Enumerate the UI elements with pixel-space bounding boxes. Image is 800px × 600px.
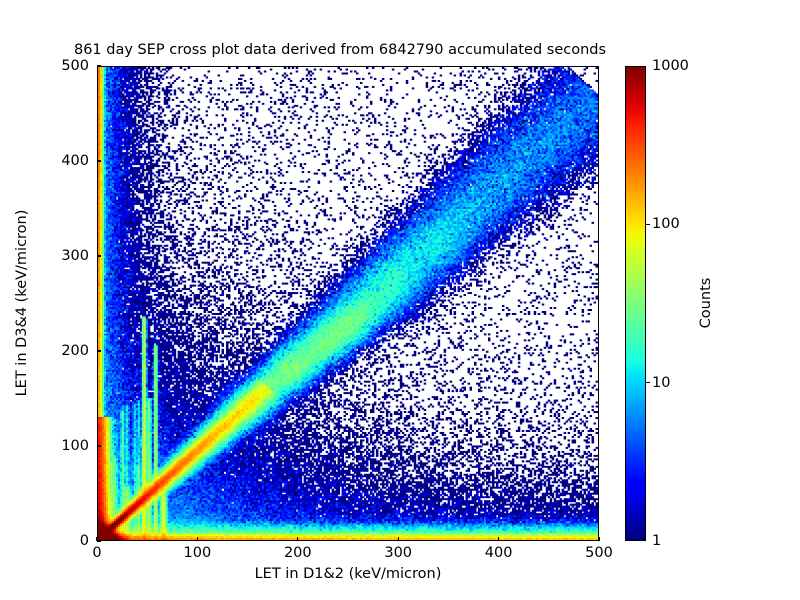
plot-title-line-1: 861 day SEP cross plot data derived from… (0, 42, 680, 59)
y-tick-label: 400 (61, 153, 89, 169)
y-tick-label: 0 (80, 533, 89, 549)
x-tick-label: 300 (384, 545, 412, 561)
colorbar (625, 66, 646, 541)
x-tick-label: 500 (585, 545, 613, 561)
colorbar-tick-label: 10 (652, 375, 670, 391)
y-tick-mark (97, 65, 101, 66)
colorbar-tick-label: 1000 (652, 58, 689, 74)
y-tick-mark (97, 540, 101, 541)
x-axis-label: LET in D1&2 (keV/micron) (97, 566, 599, 582)
y-tick-label: 100 (61, 438, 89, 454)
colorbar-tick-label: 100 (652, 216, 680, 232)
x-tick-label: 200 (284, 545, 312, 561)
scatter-heatmap-canvas (98, 67, 598, 540)
x-tick-mark (297, 537, 298, 541)
x-tick-mark (398, 537, 399, 541)
y-tick-label: 200 (61, 343, 89, 359)
y-tick-label: 300 (61, 248, 89, 264)
x-tick-label: 0 (92, 545, 101, 561)
x-tick-mark (598, 537, 599, 541)
colorbar-tick-label: 1 (652, 533, 661, 549)
y-tick-mark (97, 445, 101, 446)
y-tick-label: 500 (61, 58, 89, 74)
colorbar-tick-mark (646, 224, 650, 225)
colorbar-tick-mark (646, 382, 650, 383)
x-tick-mark (498, 537, 499, 541)
y-tick-mark (97, 160, 101, 161)
y-tick-mark (97, 350, 101, 351)
colorbar-gradient (625, 66, 646, 541)
plot-axes-area (97, 66, 599, 541)
x-tick-mark (197, 537, 198, 541)
x-tick-label: 400 (485, 545, 513, 561)
figure-canvas: 861 day SEP cross plot data derived from… (0, 0, 800, 600)
colorbar-label: Counts (698, 278, 714, 329)
y-tick-mark (97, 255, 101, 256)
x-tick-label: 100 (184, 545, 212, 561)
y-axis-label: LET in D3&4 (keV/micron) (14, 210, 30, 397)
